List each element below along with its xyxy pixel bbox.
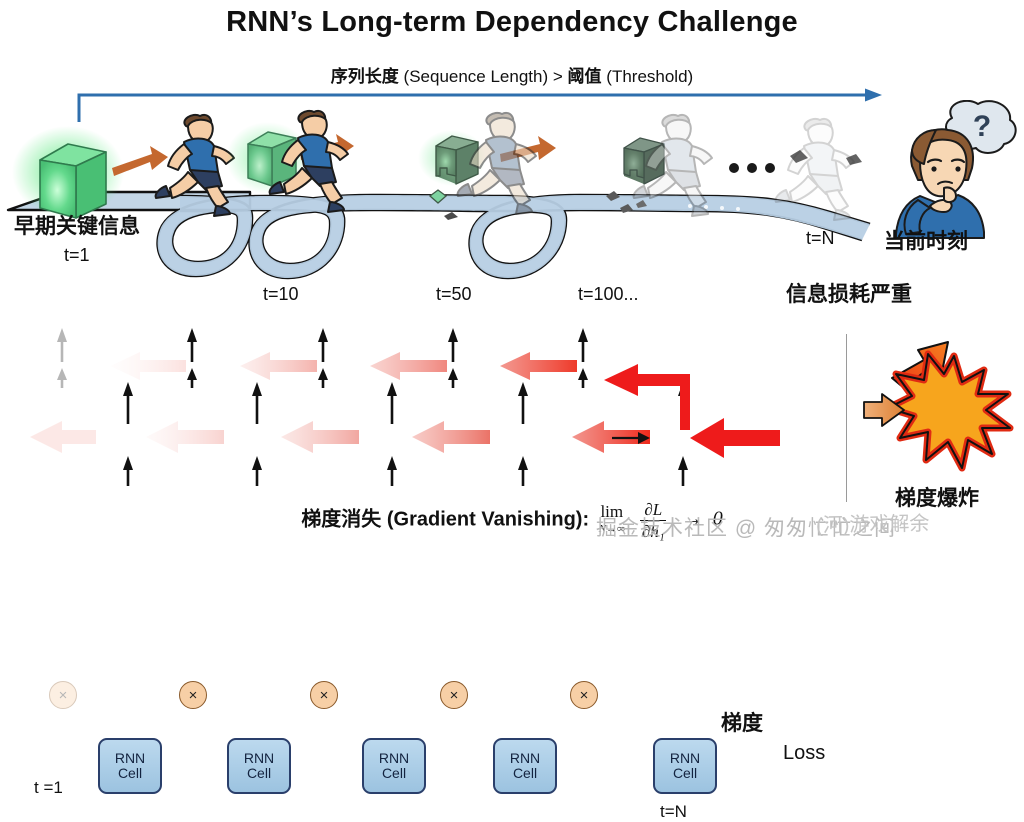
- subtitle-en-sequence-length: (Sequence Length): [404, 67, 549, 86]
- multiply-node-4[interactable]: ×: [440, 681, 468, 709]
- multiply-node-2[interactable]: ×: [179, 681, 207, 709]
- rnn-cell-label-line1: RNN: [379, 751, 409, 766]
- multiply-node-3[interactable]: ×: [310, 681, 338, 709]
- subtitle-cn-threshold: 阈值: [568, 67, 602, 86]
- slide-canvas: RNN’s Long-term Dependency Challenge 序列长…: [0, 0, 1024, 559]
- gradient-flow-cells: [30, 421, 650, 453]
- rnn-cell-label-line2: Cell: [673, 766, 697, 781]
- loss-label: Loss: [783, 742, 825, 765]
- rnn-cell-label-line2: Cell: [382, 766, 406, 781]
- page-title: RNN’s Long-term Dependency Challenge: [0, 6, 1024, 39]
- multiply-node-5[interactable]: ×: [570, 681, 598, 709]
- rnn-cell-label-line1: RNN: [244, 751, 274, 766]
- rnn-cell-label-line2: Cell: [247, 766, 271, 781]
- multiply-node-1[interactable]: ×: [49, 681, 77, 709]
- label-early-key-info: 早期关键信息: [14, 210, 140, 240]
- rnn-cell-2[interactable]: RNN Cell: [227, 738, 291, 794]
- multiply-symbol: ×: [59, 688, 68, 703]
- rnn-cell-label-line2: Cell: [118, 766, 142, 781]
- watermark-text-secondary: (河)游戏解余: [816, 507, 930, 538]
- cell-input-arrows: [123, 456, 688, 486]
- subtitle-cn-sequence-length: 序列长度: [331, 67, 399, 86]
- subtitle: 序列长度 (Sequence Length) > 阈值 (Threshold): [0, 62, 1024, 87]
- time-label-t100: t=100...: [578, 284, 639, 305]
- time-label-t50: t=50: [436, 284, 472, 305]
- time-label-tN: t=N: [806, 228, 835, 249]
- label-current-moment: 当前时刻: [884, 225, 968, 255]
- thinking-person: ?: [896, 101, 1016, 238]
- rnn-cell-label-line1: RNN: [510, 751, 540, 766]
- rnn-cell-1[interactable]: RNN Cell: [98, 738, 162, 794]
- rnn-time-label-t1: t =1: [34, 778, 63, 798]
- subtitle-en-threshold: (Threshold): [606, 67, 693, 86]
- formula-label-en: (Gradient Vanishing):: [387, 508, 589, 530]
- rnn-cell-label-line1: RNN: [670, 751, 700, 766]
- multiply-symbol: ×: [320, 688, 329, 703]
- info-cube-stage-1: [12, 126, 124, 218]
- section-divider: [846, 334, 847, 502]
- rnn-cell-4[interactable]: RNN Cell: [493, 738, 557, 794]
- time-label-t10: t=10: [263, 284, 299, 305]
- subtitle-operator: >: [553, 67, 563, 86]
- label-info-loss: 信息损耗严重: [786, 278, 912, 308]
- rnn-cell-5[interactable]: RNN Cell: [653, 738, 717, 794]
- formula-label-cn: 梯度消失: [301, 508, 381, 530]
- rnn-time-label-tN: t=N: [660, 802, 687, 822]
- scene-ellipsis: [729, 163, 775, 173]
- rnn-cell-label-line2: Cell: [513, 766, 537, 781]
- journey-scene: ? 早期关键信息: [0, 100, 1024, 300]
- gradient-explosion-panel: [862, 332, 1018, 482]
- time-label-t1: t=1: [64, 245, 90, 266]
- rnn-cell-3[interactable]: RNN Cell: [362, 738, 426, 794]
- cell-to-node-arrows: [123, 382, 688, 424]
- rnn-cell-label-line1: RNN: [115, 751, 145, 766]
- multiply-symbol: ×: [189, 688, 198, 703]
- gradient-flow-top: [110, 352, 577, 380]
- gradient-label: 梯度: [721, 707, 763, 737]
- thought-question-mark: ?: [973, 110, 991, 143]
- multiply-symbol: ×: [450, 688, 459, 703]
- multiply-symbol: ×: [580, 688, 589, 703]
- explosion-in-arrow: [864, 394, 904, 426]
